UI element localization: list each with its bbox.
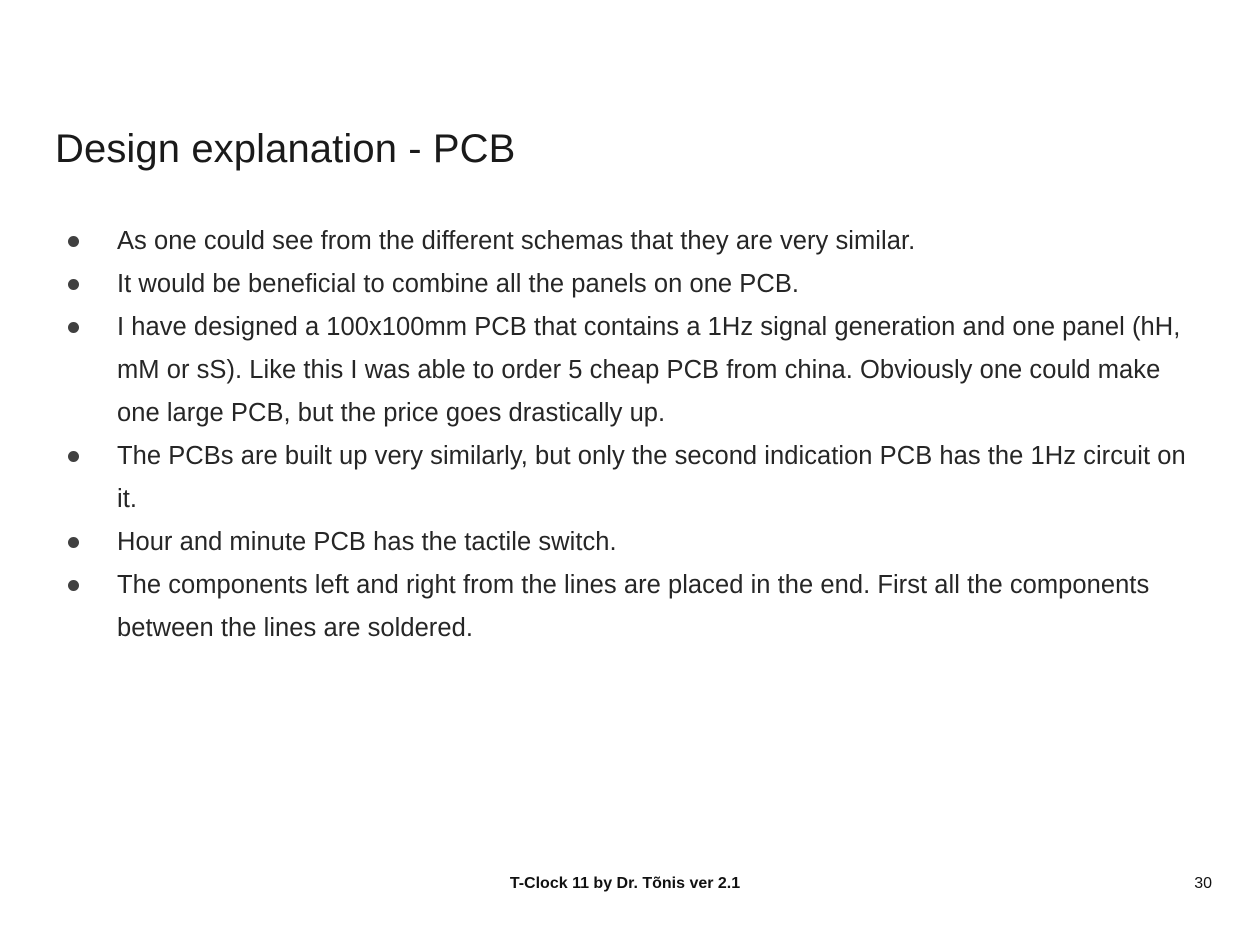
list-item-text: It would be beneficial to combine all th…	[117, 263, 1195, 306]
list-item: It would be beneficial to combine all th…	[55, 263, 1195, 306]
list-item: The PCBs are built up very similarly, bu…	[55, 435, 1195, 521]
list-item: I have designed a 100x100mm PCB that con…	[55, 306, 1195, 435]
bullet-dot-icon	[68, 451, 79, 462]
list-item: As one could see from the different sche…	[55, 220, 1195, 263]
bullet-dot-icon	[68, 537, 79, 548]
bullet-list: As one could see from the different sche…	[55, 220, 1195, 650]
footer-note: T-Clock 11 by Dr. Tõnis ver 2.1	[0, 873, 1250, 895]
list-item: Hour and minute PCB has the tactile swit…	[55, 521, 1195, 564]
list-item-text: As one could see from the different sche…	[117, 220, 1195, 263]
list-item-text: The components left and right from the l…	[117, 564, 1195, 650]
page-title: Design explanation - PCB	[55, 123, 1195, 175]
list-item-text: I have designed a 100x100mm PCB that con…	[117, 306, 1195, 435]
bullet-dot-icon	[68, 580, 79, 591]
list-item-text: The PCBs are built up very similarly, bu…	[117, 435, 1195, 521]
bullet-dot-icon	[68, 279, 79, 290]
page-number: 30	[1168, 873, 1212, 895]
bullet-dot-icon	[68, 236, 79, 247]
list-item-text: Hour and minute PCB has the tactile swit…	[117, 521, 1195, 564]
bullet-dot-icon	[68, 322, 79, 333]
slide-canvas: Design explanation - PCB As one could se…	[0, 0, 1250, 938]
list-item: The components left and right from the l…	[55, 564, 1195, 650]
